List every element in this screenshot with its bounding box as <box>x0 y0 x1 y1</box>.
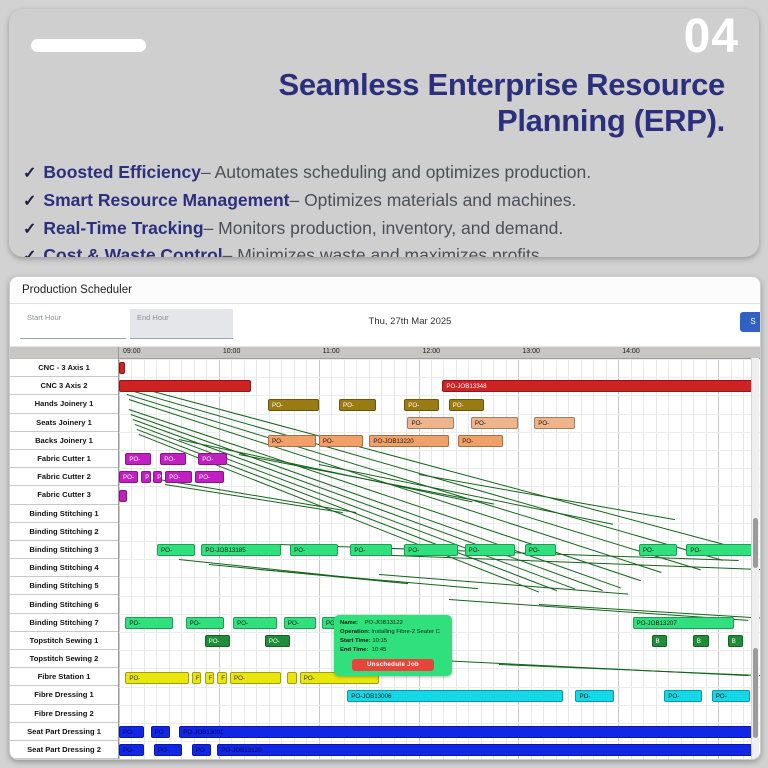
promo-bullet: ✓Boosted Efficiency – Automates scheduli… <box>23 159 745 187</box>
promo-bullet-text: – Minimizes waste and maximizes profits. <box>223 242 545 257</box>
gantt-job-bar[interactable]: PO- <box>186 617 224 629</box>
grid-horizontal-line <box>119 687 760 688</box>
promo-bullet-title: Real-Time Tracking <box>43 215 203 242</box>
tooltip-operation-key: Operation: <box>340 629 370 635</box>
gantt-job-bar[interactable]: PO- <box>319 435 363 447</box>
gantt-job-bar[interactable]: PO- <box>125 672 188 684</box>
gantt-job-bar[interactable]: PO- <box>404 399 439 411</box>
promo-pill-decoration <box>31 39 146 52</box>
promo-bullet: ✓Cost & Waste Control – Minimizes waste … <box>23 242 745 257</box>
gantt-job-bar[interactable] <box>287 672 297 684</box>
gantt-job-bar[interactable]: PO-JOB13006 <box>347 690 563 702</box>
time-tick-label: 12:00 <box>423 348 441 355</box>
gantt-job-bar[interactable]: PO- <box>205 635 230 647</box>
tooltip-name-key: Name: <box>340 620 358 626</box>
gantt-job-bar[interactable]: F <box>217 672 227 684</box>
gantt-job-bar[interactable]: PO- <box>284 617 316 629</box>
grid-horizontal-line <box>119 377 760 378</box>
time-tick-label: 14:00 <box>622 348 640 355</box>
gantt-job-bar[interactable]: PO- <box>525 544 557 556</box>
promo-bullet-text: – Monitors production, inventory, and de… <box>204 215 564 242</box>
gantt-job-bar[interactable]: PO- <box>664 690 702 702</box>
gantt-job-bar[interactable]: PO-JOB13185 <box>201 544 280 556</box>
tooltip-start-row: Start Time: 10:15 <box>340 637 446 646</box>
schedule-date-label: Thu, 27th Mar 2025 <box>10 316 760 327</box>
row-label-header-spacer <box>10 347 118 359</box>
promo-card: 04 Seamless Enterprise Resource Planning… <box>9 9 759 257</box>
gantt-job-bar[interactable]: PO- <box>119 726 144 738</box>
dependency-link <box>135 424 576 590</box>
check-icon: ✓ <box>23 245 36 257</box>
grid-horizontal-line <box>119 541 760 542</box>
gantt-row-label[interactable]: Fibre Station 1 <box>10 668 118 686</box>
gantt-job-bar[interactable]: PO- <box>404 544 458 556</box>
grid-horizontal-line <box>119 596 760 597</box>
gantt-row-label[interactable]: CNC 3 Axis 2 <box>10 377 118 395</box>
gantt-job-bar[interactable]: PO- <box>290 544 338 556</box>
gantt-row-label[interactable]: Seat Part Dressing 3 <box>10 759 118 760</box>
promo-bullet-title: Cost & Waste Control <box>43 242 222 257</box>
gantt-job-bar[interactable]: PO- <box>195 471 224 483</box>
gantt-row-label-column: CNC - 3 Axis 1CNC 3 Axis 2Hands Joinery … <box>10 347 119 760</box>
gantt-job-bar[interactable]: PO- <box>712 690 750 702</box>
gantt-job-bar[interactable]: PO-JOB13207 <box>633 617 734 629</box>
gantt-job-bar[interactable]: PO-JOB13348 <box>442 380 753 392</box>
gantt-job-bar[interactable]: PO-JOB13220 <box>369 435 448 447</box>
gantt-job-bar[interactable]: PO- <box>686 544 753 556</box>
gantt-job-bar[interactable]: PO- <box>639 544 677 556</box>
gantt-time-axis: 09:0010:0011:0012:0013:0014:00 <box>119 347 760 359</box>
gantt-job-bar[interactable]: PO- <box>471 417 519 429</box>
gantt-job-bar[interactable]: PO- <box>160 453 185 465</box>
gantt-grid-wrapper: 09:0010:0011:0012:0013:0014:00 Name: PO-… <box>119 347 760 760</box>
gantt-job-bar[interactable]: PO- <box>154 744 183 756</box>
time-tick-label: 11:00 <box>323 348 340 355</box>
gantt-job-bar[interactable] <box>119 380 251 392</box>
vertical-scrollbar-thumb[interactable] <box>753 518 758 568</box>
gantt-row-label[interactable]: Binding Stitching 3 <box>10 541 118 559</box>
time-tick-label: 10:00 <box>223 348 241 355</box>
promo-bullet: ✓Real-Time Tracking – Monitors productio… <box>23 215 745 243</box>
gantt-row-label[interactable]: Binding Stitching 7 <box>10 614 118 632</box>
gantt-job-bar[interactable]: PO-JOB13091 <box>179 726 753 738</box>
gantt-job-bar[interactable]: PO- <box>534 417 575 429</box>
grid-horizontal-line <box>119 505 760 506</box>
gantt-row-label[interactable]: Fabric Cutter 1 <box>10 450 118 468</box>
gantt-job-bar[interactable]: PO- <box>339 399 376 411</box>
app-header: Production Scheduler <box>10 277 760 304</box>
gantt-job-bar[interactable]: F <box>192 672 202 684</box>
gantt-job-bar[interactable]: PO- <box>198 453 227 465</box>
tooltip-end-row: End Time: 10:45 <box>340 646 446 655</box>
gantt-job-bar[interactable]: PO- <box>350 544 391 556</box>
gantt-job-bar[interactable]: PO- <box>157 544 195 556</box>
gantt-job-bar[interactable]: PO- <box>119 471 138 483</box>
production-scheduler-window: Production Scheduler Start Hour End Hour… <box>9 276 761 760</box>
gantt-row-label[interactable]: Binding Stitching 4 <box>10 559 118 577</box>
tooltip-operation-value: Installing Fibre-2 Seater C <box>371 629 439 635</box>
grid-horizontal-line <box>119 359 760 360</box>
tooltip-end-value: 10:45 <box>372 647 387 653</box>
gantt-row-label[interactable]: Backs Joinery 1 <box>10 432 118 450</box>
grid-horizontal-line <box>119 432 760 433</box>
promo-bullet-text: – Automates scheduling and optimizes pro… <box>201 159 591 186</box>
gantt-job-bar[interactable]: PO- <box>458 435 502 447</box>
promo-title-line1: Seamless Enterprise Resource <box>49 67 725 103</box>
gantt-chart: CNC - 3 Axis 1CNC 3 Axis 2Hands Joinery … <box>10 347 760 760</box>
gantt-row-label[interactable]: Topstitch Sewing 1 <box>10 632 118 650</box>
promo-title: Seamless Enterprise Resource Planning (E… <box>49 67 725 139</box>
unschedule-job-button[interactable]: Unschedule Job <box>352 659 434 671</box>
gantt-job-bar[interactable]: PO- <box>268 435 316 447</box>
grid-horizontal-line <box>119 395 760 396</box>
gantt-job-bar[interactable]: PO- <box>407 417 453 429</box>
gantt-row-label[interactable]: Seats Joinery 1 <box>10 414 118 432</box>
gantt-job-bar[interactable]: B <box>728 635 744 647</box>
gantt-job-bar[interactable]: PO- <box>465 544 516 556</box>
promo-bullet: ✓Smart Resource Management – Optimizes m… <box>23 187 745 215</box>
gantt-row-label[interactable]: Seat Part Dressing 2 <box>10 741 118 759</box>
gantt-row-label[interactable]: Seat Part Dressing 1 <box>10 723 118 741</box>
dependency-link <box>499 664 760 678</box>
tooltip-name-value: PO-JOB13122 <box>365 620 403 626</box>
tooltip-end-key: End Time: <box>340 647 368 653</box>
gantt-job-bar[interactable]: F <box>205 672 215 684</box>
promo-bullet-text: – Optimizes materials and machines. <box>289 187 576 214</box>
gantt-job-bar[interactable]: PO- <box>230 672 281 684</box>
grid-horizontal-line <box>119 486 760 487</box>
gantt-row-label[interactable]: Fibre Dressing 1 <box>10 686 118 704</box>
promo-bullet-list: ✓Boosted Efficiency – Automates scheduli… <box>23 159 745 257</box>
gantt-row-label[interactable]: Binding Stitching 5 <box>10 577 118 595</box>
check-icon: ✓ <box>23 218 36 243</box>
gantt-job-bar[interactable]: P <box>153 471 162 483</box>
gantt-job-bar[interactable]: PO-JOB13120 <box>217 744 753 756</box>
gantt-job-bar[interactable]: PO- <box>575 690 613 702</box>
gantt-job-bar[interactable]: PO- <box>125 453 150 465</box>
promo-bullet-title: Boosted Efficiency <box>43 159 201 186</box>
gantt-row-label[interactable]: Fabric Cutter 2 <box>10 468 118 486</box>
time-tick-label: 13:00 <box>522 348 540 355</box>
gantt-row-label[interactable]: CNC - 3 Axis 1 <box>10 359 118 377</box>
job-tooltip[interactable]: Name: PO-JOB13122 Operation: Installing … <box>334 615 452 676</box>
scheduler-toolbar: Start Hour End Hour Thu, 27th Mar 2025 S <box>10 304 760 347</box>
tooltip-name-row: Name: PO-JOB13122 <box>340 619 446 628</box>
gantt-row-label[interactable]: Fibre Dressing 2 <box>10 705 118 723</box>
grid-horizontal-line <box>119 723 760 724</box>
gantt-job-bar[interactable]: PO <box>151 726 170 738</box>
gantt-job-bar[interactable]: PO- <box>119 744 144 756</box>
gantt-job-bar[interactable]: PO- <box>265 635 290 647</box>
gantt-row-label[interactable]: Fabric Cutter 3 <box>10 486 118 504</box>
grid-horizontal-line <box>119 759 760 760</box>
gantt-job-bar[interactable]: PO- <box>165 471 192 483</box>
gantt-job-bar[interactable]: B <box>652 635 668 647</box>
gantt-row-label[interactable]: Binding Stitching 1 <box>10 505 118 523</box>
gantt-job-bar[interactable]: PO- <box>449 399 484 411</box>
check-icon: ✓ <box>23 190 36 215</box>
gantt-job-bar[interactable] <box>119 362 125 374</box>
tooltip-start-key: Start Time: <box>340 638 371 644</box>
gantt-job-bar[interactable]: PO- <box>233 617 277 629</box>
gantt-grid-area[interactable]: Name: PO-JOB13122 Operation: Installing … <box>119 359 760 760</box>
gantt-job-bar[interactable]: B <box>693 635 709 647</box>
vertical-scrollbar-thumb-lower[interactable] <box>753 648 758 738</box>
grid-horizontal-line <box>119 705 760 706</box>
gantt-row-label[interactable]: Binding Stitching 6 <box>10 595 118 613</box>
app-title: Production Scheduler <box>22 284 132 296</box>
gantt-job-bar[interactable]: PO- <box>268 399 319 411</box>
check-icon: ✓ <box>23 162 36 187</box>
promo-number: 04 <box>684 13 739 61</box>
gantt-row-label[interactable]: Hands Joinery 1 <box>10 395 118 413</box>
tooltip-operation-row: Operation: Installing Fibre-2 Seater C <box>340 628 446 637</box>
gantt-job-bar[interactable]: PO- <box>125 617 173 629</box>
promo-bullet-title: Smart Resource Management <box>43 187 289 214</box>
gantt-job-bar[interactable] <box>119 490 127 502</box>
grid-horizontal-line <box>119 741 760 742</box>
vertical-scrollbar[interactable] <box>751 358 759 759</box>
gantt-row-label[interactable]: Binding Stitching 2 <box>10 523 118 541</box>
gantt-job-bar[interactable]: P <box>141 471 151 483</box>
save-button[interactable]: S <box>740 312 761 332</box>
time-tick-label: 09:00 <box>123 348 141 355</box>
gantt-job-bar[interactable]: PO <box>192 744 211 756</box>
gantt-row-label[interactable]: Topstitch Sewing 2 <box>10 650 118 668</box>
promo-title-line2: Planning (ERP). <box>49 103 725 139</box>
tooltip-start-value: 10:15 <box>372 638 387 644</box>
